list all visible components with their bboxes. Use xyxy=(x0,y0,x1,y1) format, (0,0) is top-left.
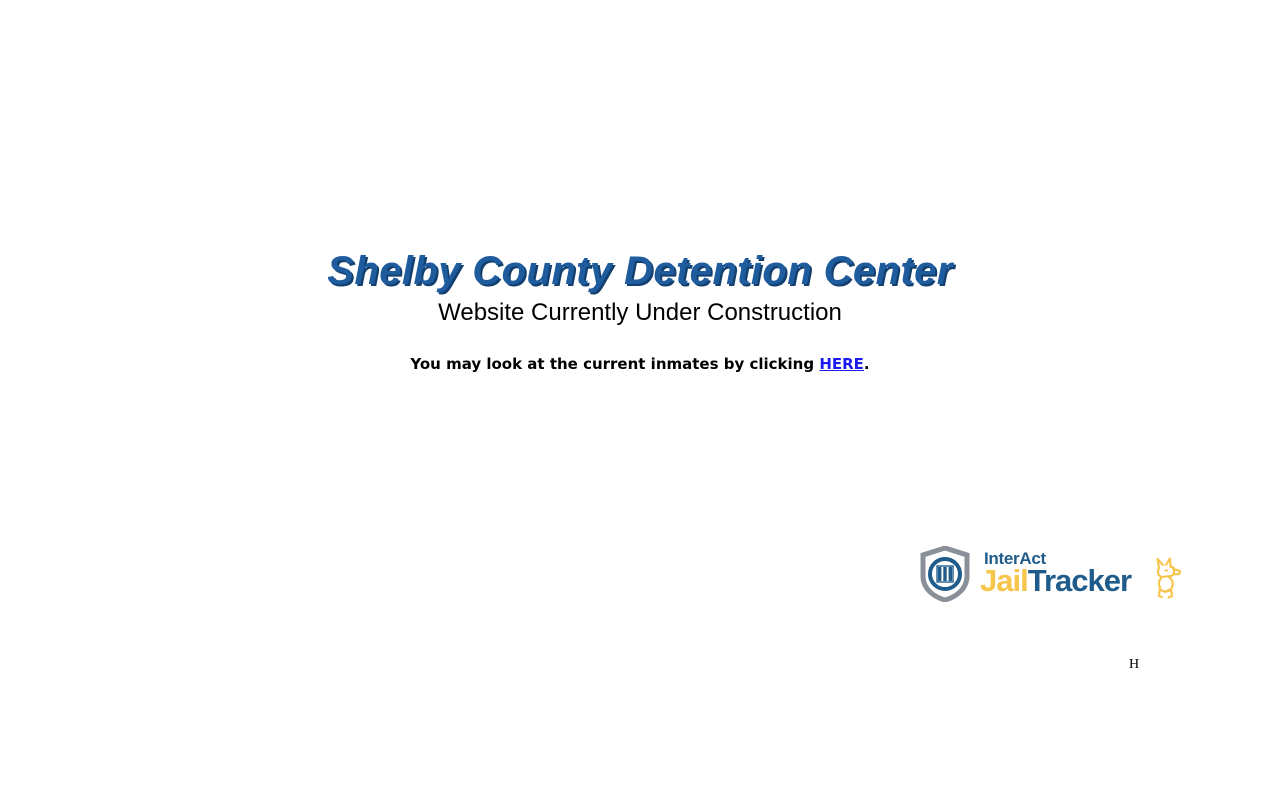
inmates-notice-text-before: You may look at the current inmates by c… xyxy=(410,355,819,373)
stray-glyph-h: H xyxy=(1129,657,1139,673)
jailtracker-logo: InterAct JailTracker xyxy=(920,546,1144,604)
logo-jailtracker-text: JailTracker xyxy=(980,564,1131,598)
current-inmates-link[interactable]: HERE xyxy=(819,355,864,373)
page-title: Shelby County Detention Center xyxy=(0,248,1280,294)
page-subtitle: Website Currently Under Construction xyxy=(0,294,1280,328)
shield-jail-bars-icon xyxy=(920,546,970,602)
jailtracker-wordmark: InterAct JailTracker xyxy=(964,546,1144,604)
logo-tracker-text: Tracker xyxy=(1028,563,1131,598)
inmates-notice: You may look at the current inmates by c… xyxy=(0,353,1280,375)
logo-jail-text: Jail xyxy=(980,563,1028,598)
dog-icon xyxy=(1150,556,1184,600)
page-header: Shelby County Detention Center Website C… xyxy=(0,248,1280,328)
inmates-notice-text-after: . xyxy=(864,355,870,373)
